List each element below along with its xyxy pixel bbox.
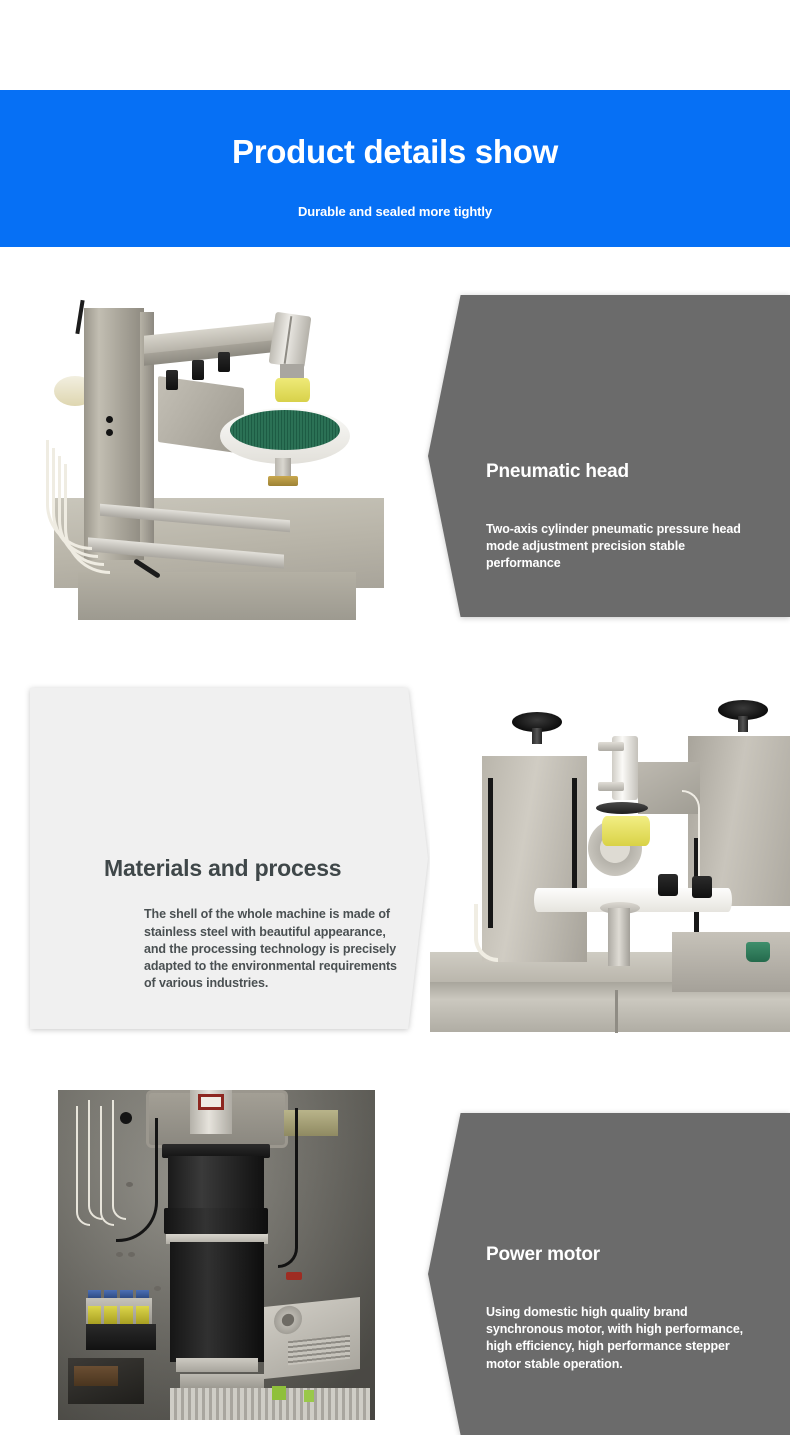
green-terminal [272, 1386, 286, 1400]
valve-top-cap [88, 1290, 101, 1298]
stepper-motor-body [170, 1242, 264, 1362]
bench-panel-seam [615, 990, 618, 1033]
section-body: The shell of the whole machine is made o… [144, 906, 402, 992]
guide-roller [658, 874, 678, 896]
adjust-knob [218, 352, 230, 372]
chuck-crown [596, 802, 648, 814]
solenoid-coil [120, 1306, 133, 1324]
adjust-knob [166, 370, 178, 390]
solenoid-coil [136, 1306, 149, 1324]
green-terminal [304, 1390, 314, 1402]
power-motor-cabinet-photo [58, 1090, 375, 1420]
section-pneumatic-head: Pneumatic head Two-axis cylinder pneumat… [0, 270, 790, 620]
panel-screw [126, 1182, 133, 1187]
lower-stainless-housing [672, 932, 790, 992]
materials-text: Materials and process The shell of the w… [104, 856, 404, 993]
power-motor-text: Power motor Using domestic high quality … [486, 1245, 746, 1373]
motor-mid-section [164, 1208, 268, 1234]
section-materials-and-process: Materials and process The shell of the w… [0, 688, 790, 1033]
turntable-brass-base [268, 476, 298, 486]
pneumatic-head-text: Pneumatic head Two-axis cylinder pneumat… [486, 462, 746, 573]
stainless-steel-body-photo [430, 690, 790, 1033]
column-hole-row [106, 410, 113, 442]
valve-top-cap [104, 1290, 117, 1298]
guide-roller [692, 876, 712, 898]
green-bottle-cap [746, 942, 770, 962]
solenoid-coil [88, 1306, 101, 1324]
handwheel-hub [738, 716, 748, 732]
black-cable [116, 1118, 158, 1242]
housing-slot [572, 778, 577, 888]
black-power-cable [278, 1108, 298, 1268]
valve-body [86, 1324, 156, 1350]
section-body: Using domestic high quality brand synchr… [486, 1304, 746, 1373]
panel-screw [116, 1252, 123, 1257]
yellow-cap-chuck [602, 816, 650, 846]
controller-faceplate [74, 1366, 118, 1386]
pneumatic-head-machine-photo [40, 290, 410, 620]
motor-gearhead [168, 1156, 264, 1212]
motor-base-plate [176, 1358, 258, 1372]
chuck-holder [280, 364, 304, 378]
green-ribbed-mat [230, 410, 340, 450]
yellow-cap-chuck [275, 378, 310, 402]
coupler-red-marking [198, 1094, 224, 1110]
section-heading: Materials and process [104, 856, 404, 881]
red-terminal-lug [286, 1272, 302, 1280]
section-heading: Pneumatic head [486, 462, 746, 483]
solenoid-coil [104, 1306, 117, 1324]
section-body: Two-axis cylinder pneumatic pressure hea… [486, 521, 746, 573]
section-power-motor: Power motor Using domestic high quality … [0, 1088, 790, 1420]
page-title: Product details show [232, 135, 558, 168]
panel-screw [154, 1286, 161, 1291]
handwheel-hub [532, 728, 542, 744]
terminal-block-row [170, 1388, 370, 1420]
adjust-knob [192, 360, 204, 380]
turntable-stem [608, 908, 630, 966]
machine-table-front [78, 572, 356, 620]
page-subtitle: Durable and sealed more tightly [298, 204, 492, 219]
valve-top-cap [136, 1290, 149, 1298]
page-header-banner: Product details show Durable and sealed … [0, 90, 790, 247]
air-fitting [598, 742, 624, 751]
air-fitting [598, 782, 624, 791]
panel-screw [128, 1252, 135, 1257]
section-heading: Power motor [486, 1245, 746, 1266]
valve-top-cap [120, 1290, 133, 1298]
